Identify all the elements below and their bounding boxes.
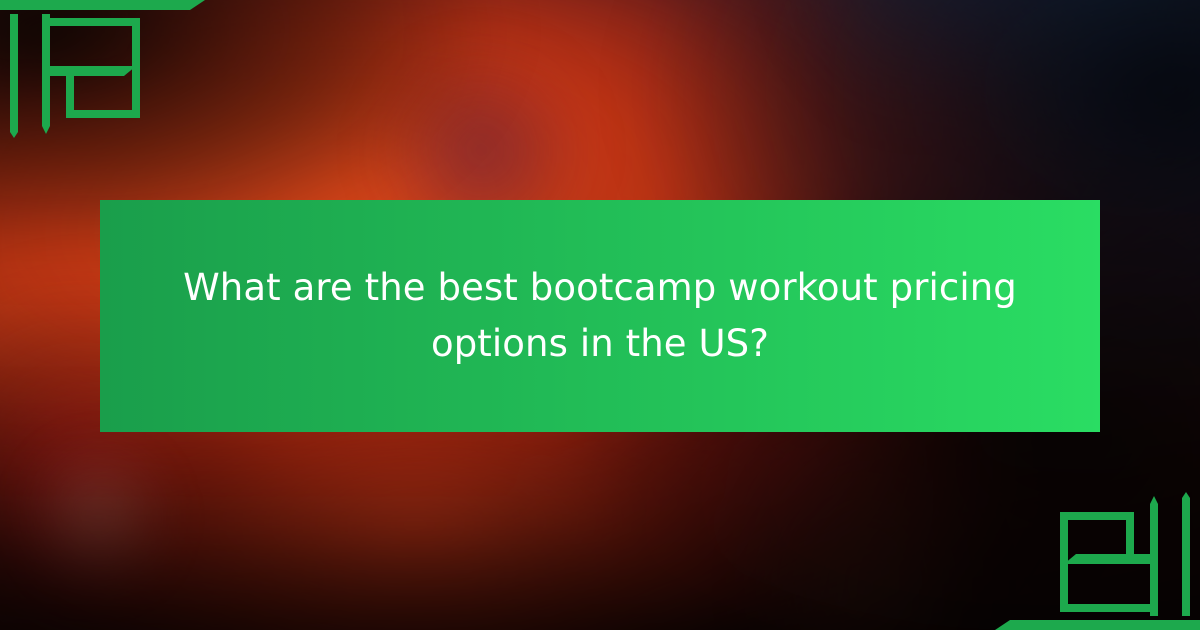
social-card: What are the best bootcamp workout prici… [0,0,1200,630]
headline-banner: What are the best bootcamp workout prici… [100,200,1100,432]
page-title: What are the best bootcamp workout prici… [156,260,1044,372]
